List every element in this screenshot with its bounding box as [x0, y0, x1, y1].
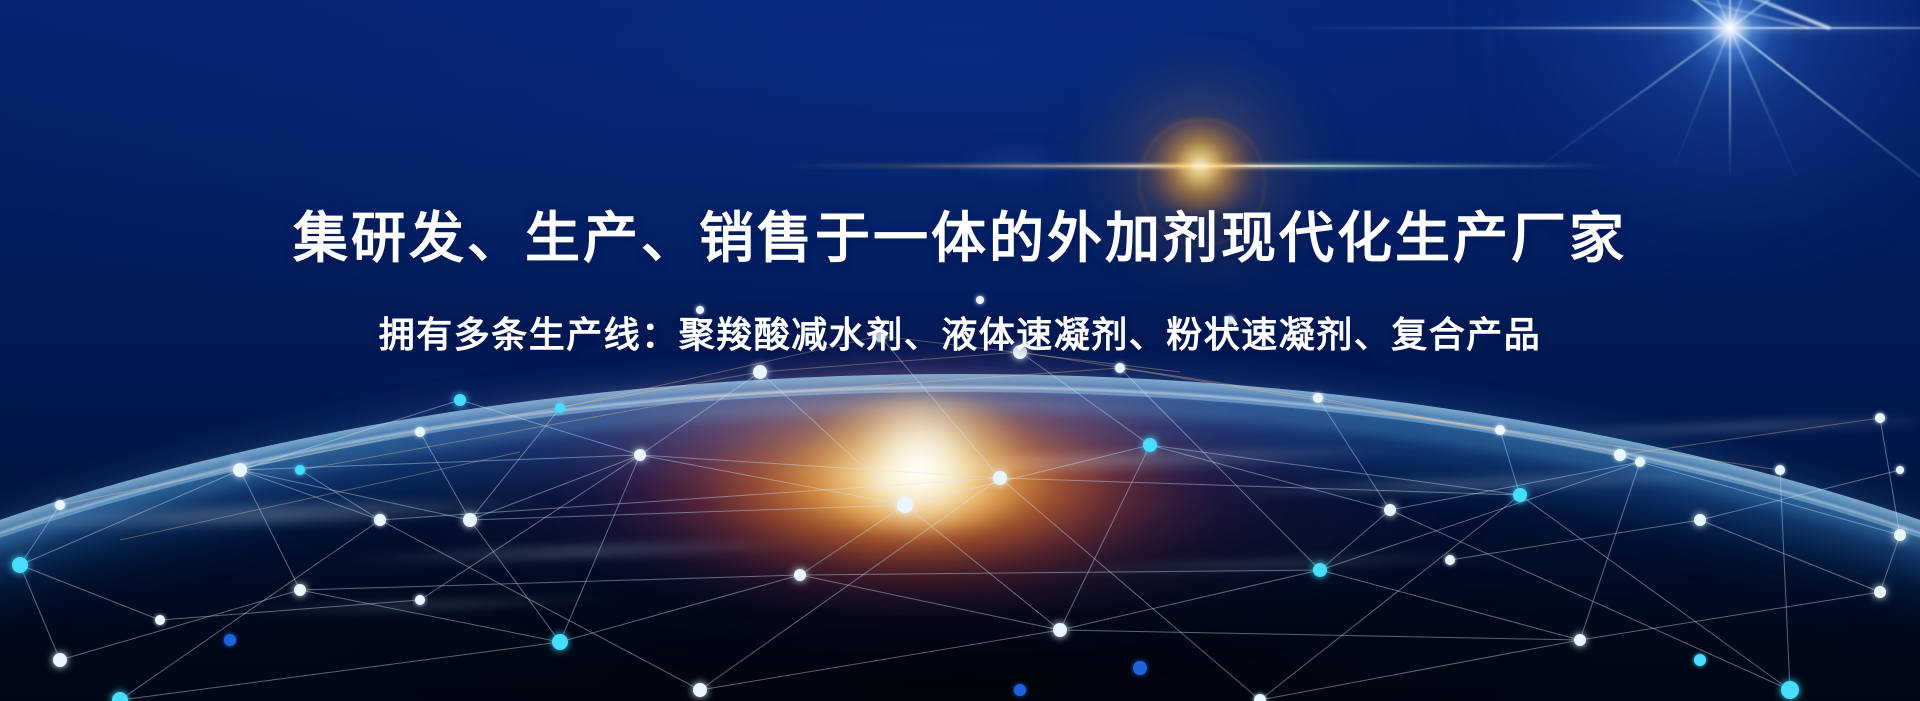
orange-flare-ghost — [940, 140, 1090, 186]
hero-banner: 集研发、生产、销售于一体的外加剂现代化生产厂家 拥有多条生产线：聚羧酸减水剂、液… — [0, 0, 1920, 701]
sunrise-hotspot — [795, 398, 1045, 528]
page-title: 集研发、生产、销售于一体的外加剂现代化生产厂家 — [0, 208, 1920, 269]
starburst-ray-horizontal — [1300, 27, 1920, 29]
page-subtitle: 拥有多条生产线：聚羧酸减水剂、液体速凝剂、粉状速凝剂、复合产品 — [0, 314, 1920, 355]
orange-flare-core — [1140, 118, 1260, 214]
earth-warm-wash — [180, 390, 1360, 701]
